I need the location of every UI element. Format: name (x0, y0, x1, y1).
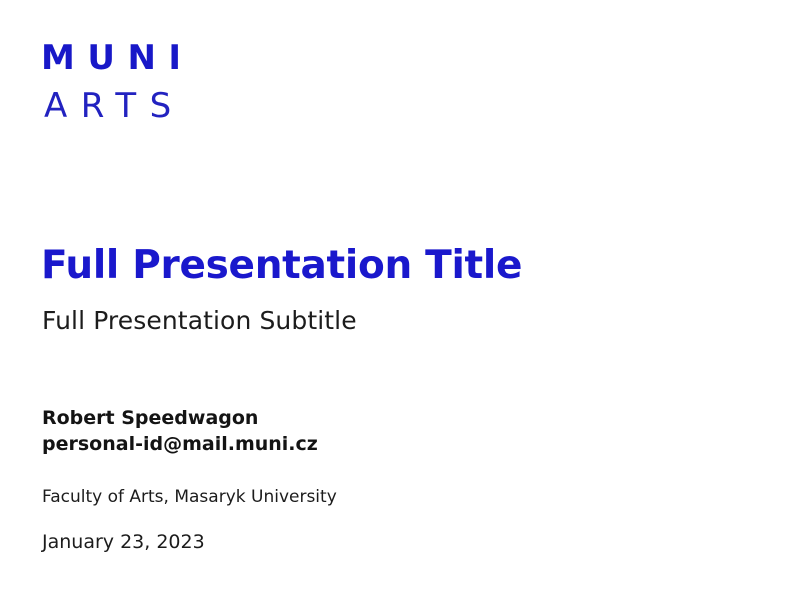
logo-muni-wordmark: MUNI (41, 38, 251, 78)
presentation-title-slide: MUNI ARTS Full Presentation Title Full P… (0, 0, 794, 596)
page-title: Full Presentation Title (41, 242, 522, 290)
author-email: personal-id@mail.muni.cz (42, 431, 318, 457)
author-block: Robert Speedwagon personal-id@mail.muni.… (42, 405, 318, 457)
author-name: Robert Speedwagon (42, 405, 318, 431)
page-subtitle: Full Presentation Subtitle (42, 305, 357, 337)
author-affiliation: Faculty of Arts, Masaryk University (42, 485, 337, 509)
muni-arts-logo: MUNI ARTS (41, 38, 251, 126)
logo-arts-wordmark: ARTS (44, 86, 251, 126)
presentation-date: January 23, 2023 (42, 529, 205, 555)
